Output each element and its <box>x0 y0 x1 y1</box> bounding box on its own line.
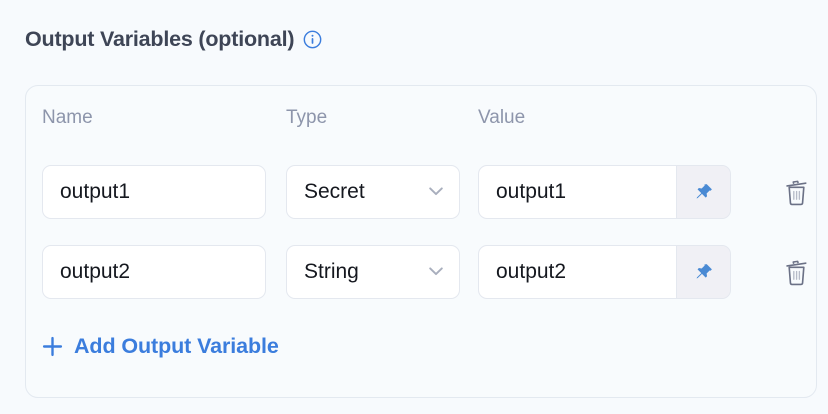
variable-type-select[interactable]: Secret <box>286 165 460 219</box>
delete-row-button[interactable] <box>778 254 814 290</box>
pin-icon <box>693 182 714 203</box>
table-row: output2 String output2 <box>26 245 816 299</box>
pin-value-button[interactable] <box>677 246 730 298</box>
delete-row-button[interactable] <box>778 174 814 210</box>
plus-icon <box>42 336 63 357</box>
variable-name-input[interactable]: output1 <box>42 165 266 219</box>
variable-value-group: output2 <box>478 245 731 299</box>
variable-value-input[interactable]: output1 <box>479 166 677 218</box>
add-output-variable-button[interactable]: Add Output Variable <box>42 331 279 361</box>
column-header-type: Type <box>286 104 327 132</box>
variable-value-group: output1 <box>478 165 731 219</box>
pin-icon <box>693 262 714 283</box>
section-header: Output Variables (optional) <box>25 25 322 53</box>
table-header-row: Name Type Value <box>26 104 816 132</box>
variable-value-input[interactable]: output2 <box>479 246 677 298</box>
pin-value-button[interactable] <box>677 166 730 218</box>
add-output-variable-label: Add Output Variable <box>74 331 279 361</box>
info-circle-icon[interactable] <box>303 29 322 49</box>
column-header-name: Name <box>42 104 93 132</box>
variable-type-select[interactable]: String <box>286 245 460 299</box>
trash-icon <box>784 259 809 286</box>
table-row: output1 Secret output1 <box>26 165 816 219</box>
column-header-value: Value <box>478 104 525 132</box>
variable-type-value: String <box>304 246 359 298</box>
output-variables-card: Name Type Value output1 Secret output <box>25 85 817 398</box>
variable-type-value: Secret <box>304 166 365 218</box>
output-variable-rows: output1 Secret output1 <box>26 165 816 325</box>
output-variables-panel: Output Variables (optional) Name Type Va… <box>0 0 828 414</box>
variable-name-input[interactable]: output2 <box>42 245 266 299</box>
trash-icon <box>784 179 809 206</box>
page-title: Output Variables (optional) <box>25 25 294 53</box>
